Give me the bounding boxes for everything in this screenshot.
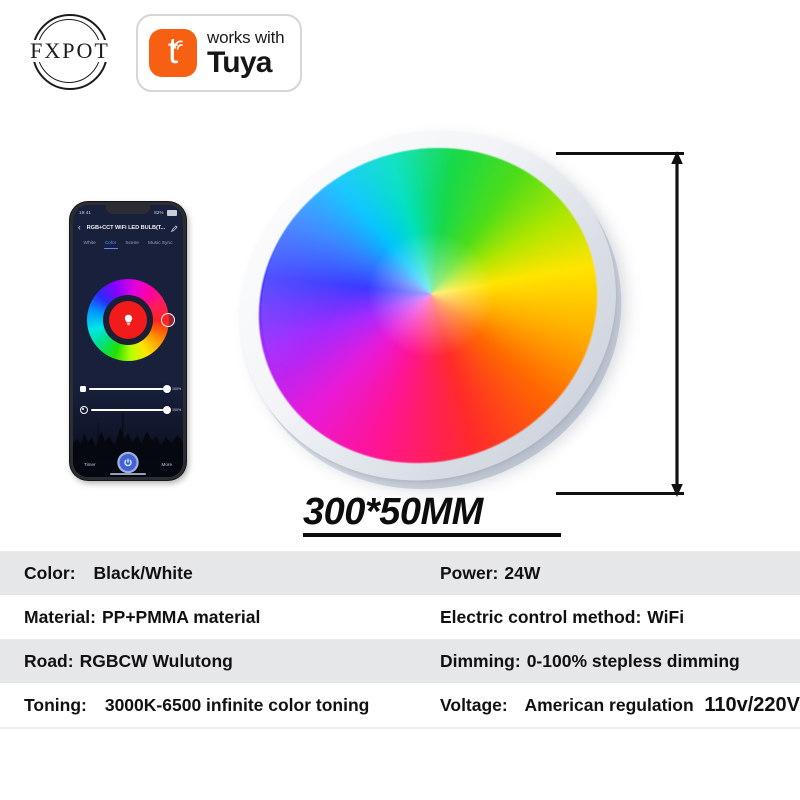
spec-toning: Toning: 3000K-6500 infinite color toning: [0, 695, 430, 716]
brightness-knob[interactable]: [163, 385, 171, 393]
smartphone-mockup: 19:41 82% ‹ RGB+CCT WiFi LED BULB(T... W…: [70, 202, 186, 480]
app-title: RGB+CCT WiFi LED BULB(T...: [81, 225, 171, 231]
table-row: Toning: 3000K-6500 infinite color toning…: [0, 683, 800, 727]
works-with-tuya-badge: t works with Tuya: [136, 14, 302, 92]
battery-icon: [167, 210, 177, 216]
saturation-knob[interactable]: [163, 406, 171, 414]
spec-color-value: Black/White: [94, 563, 193, 584]
spec-material-label: Material:: [24, 607, 96, 628]
tab-color[interactable]: Color: [105, 241, 116, 249]
more-button[interactable]: More: [162, 462, 172, 467]
tab-music-sync[interactable]: Music Sync: [148, 241, 173, 249]
works-with-text: works with: [207, 29, 284, 46]
lamp-gloss: [216, 101, 637, 504]
spec-voltage-value: American regulation: [524, 695, 693, 716]
brand-header: FXPOT t works with Tuya: [0, 0, 800, 110]
phone-notch: [106, 205, 150, 214]
color-wheel[interactable]: [87, 279, 169, 361]
spec-road-label: Road:: [24, 651, 74, 672]
spec-road: Road: RGBCW Wulutong: [0, 651, 430, 672]
table-row: Road: RGBCW Wulutong Dimming: 0-100% ste…: [0, 639, 800, 683]
spec-control-method-label: Electric control method:: [440, 607, 641, 628]
app-bar: ‹ RGB+CCT WiFi LED BULB(T...: [73, 220, 183, 236]
ceiling-light-product-image: [238, 133, 618, 478]
color-wheel-center-preview[interactable]: [109, 301, 147, 339]
saturation-icon: [80, 406, 88, 414]
phone-screen: 19:41 82% ‹ RGB+CCT WiFi LED BULB(T... W…: [73, 205, 183, 477]
status-time: 19:41: [79, 210, 91, 215]
brightness-track[interactable]: [89, 388, 168, 390]
tuya-letter-t: t: [149, 27, 197, 75]
tab-white[interactable]: White: [84, 241, 96, 249]
dimension-arrow-vertical: [664, 150, 690, 498]
status-battery-group: 82%: [154, 210, 177, 216]
fxpot-logo: FXPOT: [18, 12, 122, 96]
table-bottom-edge: [0, 727, 800, 729]
table-row: Color: Black/White Power: 24W: [0, 551, 800, 595]
home-indicator: [110, 473, 146, 475]
tab-scene[interactable]: Scene: [125, 241, 139, 249]
dimension-label-underline: [303, 533, 561, 537]
color-wheel-handle[interactable]: [161, 313, 175, 327]
saturation-slider[interactable]: 100%: [80, 404, 182, 416]
spec-power: Power: 24W: [430, 563, 800, 584]
spec-control-method-value: WiFi: [647, 607, 684, 628]
spec-control-method: Electric control method: WiFi: [430, 607, 800, 628]
fxpot-wordmark: FXPOT: [18, 38, 122, 64]
wifi-arcs-icon: [173, 37, 189, 51]
tuya-text: Tuya: [207, 48, 284, 78]
status-battery-pct: 82%: [154, 210, 163, 215]
dimension-label: 300*50MM: [303, 491, 483, 534]
spec-power-label: Power:: [440, 563, 498, 584]
spec-voltage-label: Voltage:: [440, 695, 508, 716]
tuya-wordmark: works with Tuya: [207, 29, 284, 78]
specification-table: Color: Black/White Power: 24W Material: …: [0, 551, 800, 727]
spec-dimming-value: 0-100% stepless dimming: [527, 651, 740, 672]
brightness-slider[interactable]: 100%: [80, 383, 182, 395]
product-infographic-page: FXPOT t works with Tuya: [0, 0, 800, 800]
spec-material: Material: PP+PMMA material: [0, 607, 430, 628]
power-button[interactable]: [120, 454, 137, 471]
table-row: Material: PP+PMMA material Electric cont…: [0, 595, 800, 639]
color-wheel-container: [87, 279, 169, 361]
spec-road-value: RGBCW Wulutong: [80, 651, 233, 672]
brightness-value: 100%: [172, 387, 182, 391]
spec-color-label: Color:: [24, 563, 76, 584]
spec-dimming-label: Dimming:: [440, 651, 521, 672]
spec-voltage: Voltage: American regulation 110v/220V: [430, 694, 800, 717]
pencil-icon[interactable]: [171, 225, 178, 232]
spec-dimming: Dimming: 0-100% stepless dimming: [430, 651, 800, 672]
brightness-icon: [80, 386, 86, 392]
spec-toning-value: 3000K-6500 infinite color toning: [105, 695, 370, 716]
saturation-track[interactable]: [91, 409, 168, 411]
spec-voltage-value-secondary: 110v/220V: [704, 694, 800, 717]
lamp-body: [189, 76, 667, 534]
power-icon: [124, 458, 133, 467]
mode-tabs: White Color Scene Music Sync: [73, 238, 183, 252]
saturation-value: 100%: [172, 408, 182, 412]
tuya-app-icon: t: [149, 29, 197, 77]
spec-power-value: 24W: [504, 563, 540, 584]
spec-toning-label: Toning:: [24, 695, 87, 716]
timer-button[interactable]: Timer: [84, 462, 96, 467]
spec-material-value: PP+PMMA material: [102, 607, 260, 628]
bulb-icon: [124, 314, 133, 326]
spec-color: Color: Black/White: [0, 563, 430, 584]
